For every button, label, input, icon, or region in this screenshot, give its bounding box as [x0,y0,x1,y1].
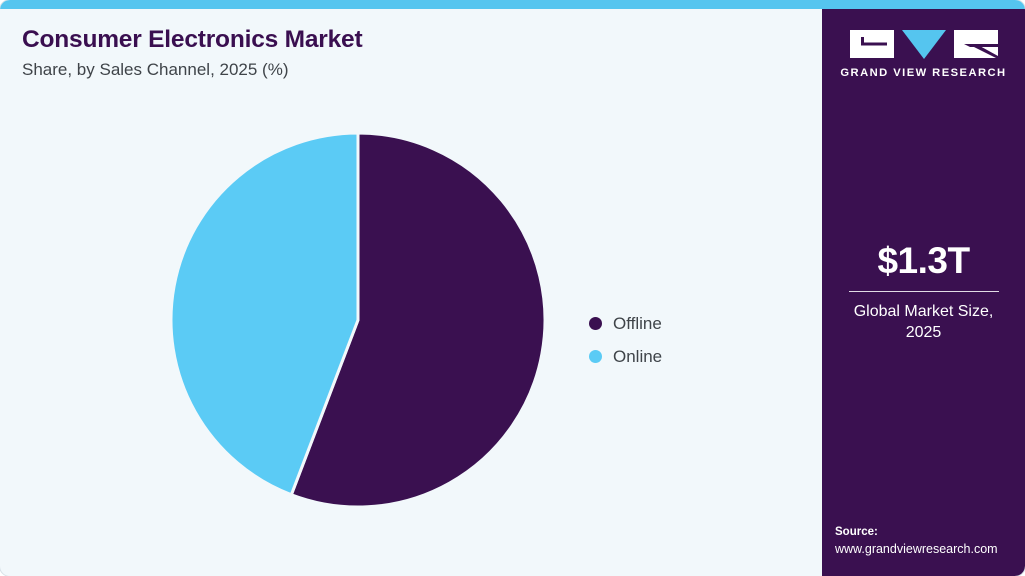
legend-label-offline: Offline [613,315,662,332]
stat-divider [849,291,999,292]
brand-wordmark: GRAND VIEW RESEARCH [840,67,1006,79]
page-title: Consumer Electronics Market [22,26,362,54]
brand-logo: GRAND VIEW RESEARCH [822,28,1025,79]
chart-legend: Offline Online [589,307,662,373]
gvr-logo-icon [850,28,998,60]
legend-item-offline[interactable]: Offline [589,307,662,340]
chart-main-area: Consumer Electronics Market Share, by Sa… [0,9,822,576]
page-subtitle: Share, by Sales Channel, 2025 (%) [22,60,362,80]
legend-item-online[interactable]: Online [589,340,662,373]
legend-swatch-offline [589,317,602,330]
stat-value: $1.3T [822,241,1025,281]
title-block: Consumer Electronics Market Share, by Sa… [22,26,362,81]
pie-chart-svg [169,131,547,509]
pie-chart [169,131,547,509]
stat-caption: Global Market Size, 2025 [822,301,1025,343]
infographic-card: Consumer Electronics Market Share, by Sa… [0,0,1025,576]
legend-label-online: Online [613,348,662,365]
side-panel: GRAND VIEW RESEARCH $1.3T Global Market … [822,9,1025,576]
top-accent-strip [0,0,1025,9]
legend-swatch-online [589,350,602,363]
source-url[interactable]: www.grandviewresearch.com [835,541,1025,558]
source-block: Source: www.grandviewresearch.com [835,524,1025,558]
source-label: Source: [835,524,1025,541]
market-size-stat: $1.3T Global Market Size, 2025 [822,241,1025,343]
